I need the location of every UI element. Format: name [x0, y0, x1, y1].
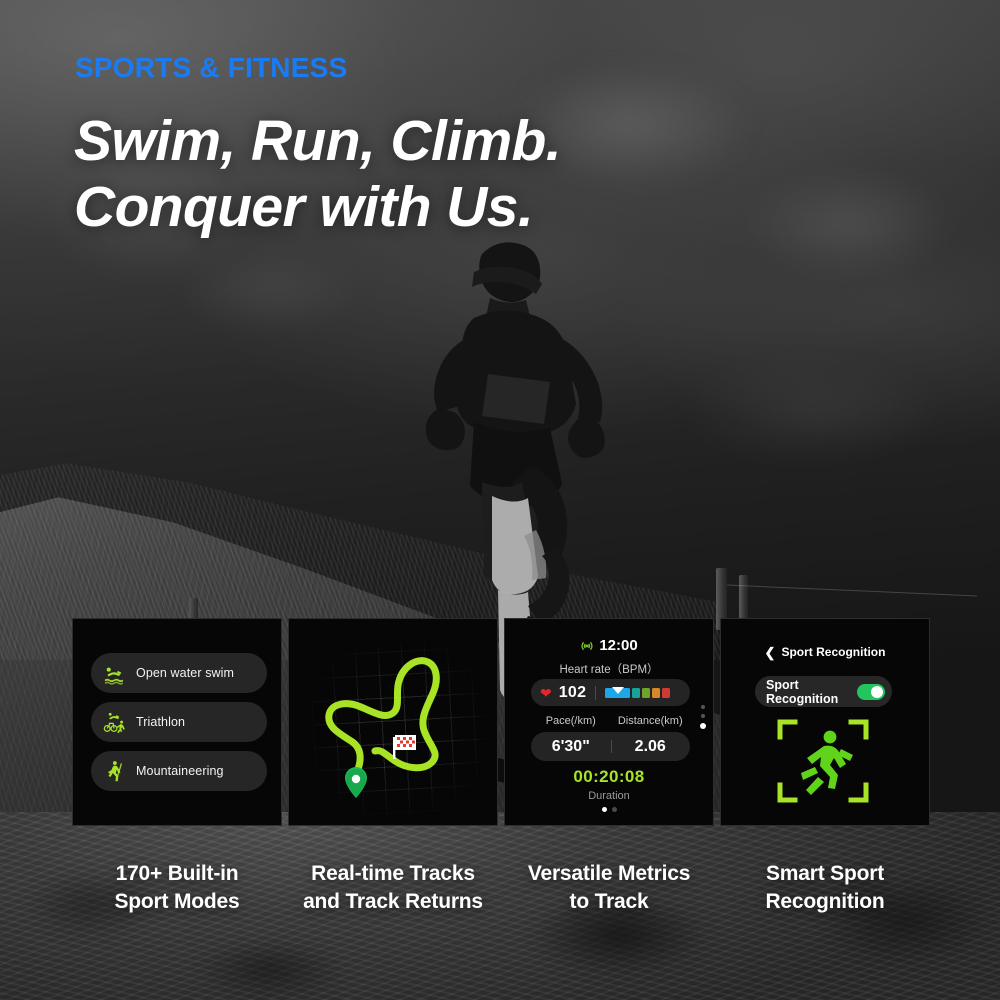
duration-label: Duration	[505, 790, 713, 802]
headline-line-2: Conquer with Us.	[74, 174, 561, 240]
sport-mode-label: Mountaineering	[136, 764, 224, 778]
panel-track-map	[288, 618, 498, 826]
page-dot	[612, 807, 617, 812]
page-dot-active	[602, 807, 607, 812]
watch-metrics-screen: 12:00 Heart rate（BPM） ❤ 102 Pace(	[505, 619, 713, 825]
cloud	[700, 150, 1000, 300]
sport-recognition-header: ❮ Sport Recognition	[721, 645, 929, 659]
heart-icon: ❤	[540, 686, 552, 700]
location-pin-icon	[345, 767, 367, 798]
eyebrow-label: SPORTS & FITNESS	[75, 52, 347, 84]
switch-knob	[871, 686, 883, 698]
sport-recognition-switch[interactable]	[857, 684, 885, 700]
zone-segment-1	[605, 688, 630, 698]
distance-label: Distance(km)	[611, 715, 691, 727]
zone-segment-5	[662, 688, 670, 698]
zone-segment-2	[632, 688, 640, 698]
caption-real-time-tracks: Real-time Tracks and Track Returns	[288, 860, 498, 915]
mountaineering-icon	[103, 760, 126, 783]
checkered-flag-icon	[393, 735, 416, 759]
caption-smart-sport-recognition: Smart Sport Recognition	[720, 860, 930, 915]
running-figure-icon	[777, 719, 869, 803]
sport-mode-item-triathlon[interactable]: Triathlon	[91, 702, 267, 742]
sport-mode-item-open-water-swim[interactable]: Open water swim	[91, 653, 267, 693]
sport-mode-list: Open water swim	[91, 653, 267, 791]
caption-line-2: to Track	[504, 888, 714, 916]
open-water-swim-icon	[103, 662, 126, 685]
caption-line-1: Versatile Metrics	[504, 860, 714, 888]
route-path	[329, 661, 436, 774]
divider	[611, 740, 612, 753]
caption-sport-modes: 170+ Built-in Sport Modes	[72, 860, 282, 915]
caption-line-1: 170+ Built-in	[72, 860, 282, 888]
caption-line-1: Real-time Tracks	[288, 860, 498, 888]
heart-rate-value: 102	[559, 684, 587, 702]
pace-distance-labels: Pace(/km) Distance(km)	[531, 715, 690, 727]
caption-row: 170+ Built-in Sport Modes Real-time Trac…	[72, 860, 930, 915]
page-indicator-horizontal[interactable]	[505, 807, 713, 812]
panel-sport-recognition: ❮ Sport Recognition Sport Recognition	[720, 618, 930, 826]
zone-segment-3	[642, 688, 650, 698]
caption-versatile-metrics: Versatile Metrics to Track	[504, 860, 714, 915]
scroll-dot	[701, 714, 705, 718]
zone-marker-icon	[612, 687, 624, 694]
feature-panel-row: Open water swim	[72, 618, 930, 826]
heart-rate-zone-bar	[605, 688, 670, 698]
divider	[595, 686, 596, 700]
sport-mode-label: Triathlon	[136, 715, 185, 729]
sport-mode-item-mountaineering[interactable]: Mountaineering	[91, 751, 267, 791]
pace-distance-pill[interactable]: 6'30" 2.06	[531, 732, 690, 761]
scroll-indicator-vertical[interactable]	[700, 705, 706, 729]
scroll-dot-active	[700, 723, 706, 729]
track-map[interactable]	[289, 619, 497, 825]
watch-status-bar: 12:00	[505, 637, 713, 654]
chevron-left-icon[interactable]: ❮	[765, 646, 776, 659]
watch-time: 12:00	[599, 637, 637, 654]
duration-value: 00:20:08	[505, 767, 713, 787]
toggle-label: Sport Recognition	[766, 678, 857, 706]
sport-mode-label: Open water swim	[136, 666, 234, 680]
zone-segment-4	[652, 688, 660, 698]
sport-recognition-title: Sport Recognition	[781, 645, 885, 659]
distance-value: 2.06	[611, 738, 691, 756]
heart-rate-pill[interactable]: ❤ 102	[531, 679, 690, 706]
scroll-dot	[701, 705, 705, 709]
panel-metrics: 12:00 Heart rate（BPM） ❤ 102 Pace(	[504, 618, 714, 826]
pace-value: 6'30"	[531, 738, 611, 756]
pace-label: Pace(/km)	[531, 715, 611, 727]
caption-line-1: Smart Sport	[720, 860, 930, 888]
caption-line-2: Sport Modes	[72, 888, 282, 916]
panel-sport-modes: Open water swim	[72, 618, 282, 826]
caption-line-2: Recognition	[720, 888, 930, 916]
headline-line-1: Swim, Run, Climb.	[74, 108, 561, 174]
heart-rate-label: Heart rate（BPM）	[505, 661, 713, 677]
gps-signal-icon	[580, 639, 594, 653]
page-title: Swim, Run, Climb. Conquer with Us.	[74, 108, 561, 240]
triathlon-icon	[103, 711, 126, 734]
caption-line-2: and Track Returns	[288, 888, 498, 916]
sport-recognition-toggle-row[interactable]: Sport Recognition	[755, 676, 892, 707]
sport-recognition-screen: ❮ Sport Recognition Sport Recognition	[721, 619, 929, 825]
